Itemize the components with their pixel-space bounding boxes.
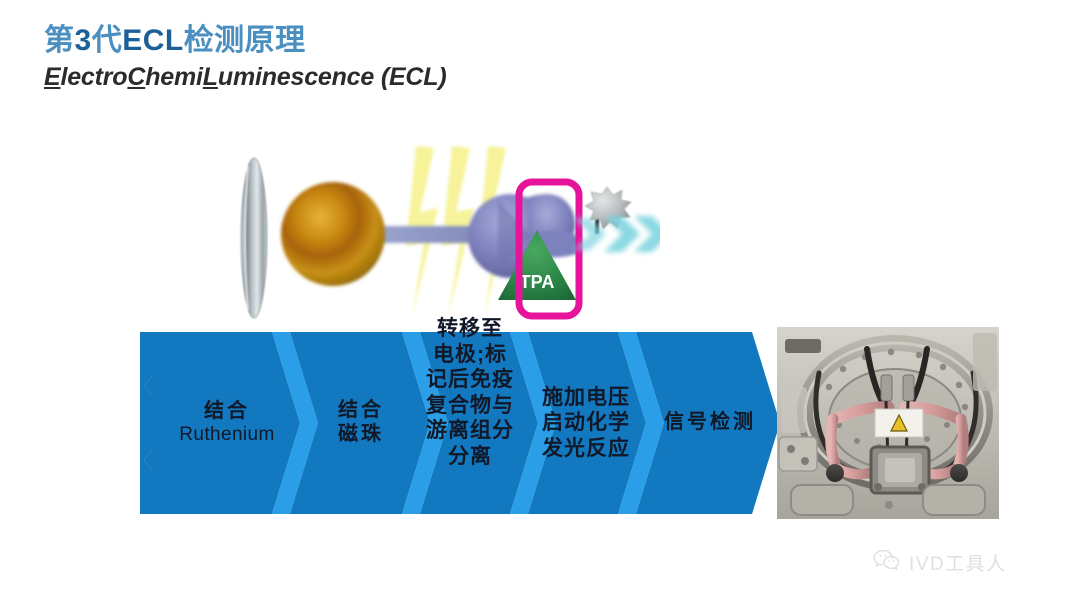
page-title-tail: 检测原理	[184, 24, 306, 57]
watermark: IVD工具人	[872, 548, 1007, 577]
subtitle-u-l: L	[203, 63, 218, 91]
page-subtitle: ElectroChemiLuminescence (ECL)	[44, 63, 744, 92]
subtitle-t-uminescence: uminescence (ECL)	[218, 63, 447, 91]
ecl-illustration: TPA	[230, 138, 660, 333]
page-title: 第3代ECL检测原理	[44, 24, 744, 58]
wechat-icon	[872, 548, 902, 577]
page-title-accent-number: 3	[75, 24, 92, 57]
watermark-text: IVD工具人	[909, 549, 1007, 576]
page-title-accent-ecl: ECL	[122, 24, 184, 57]
chevron-step-1[interactable]	[140, 332, 300, 514]
tpa-label: TPA	[520, 272, 555, 292]
page-title-mid: 代	[92, 24, 123, 57]
process-flow-shapes	[140, 330, 780, 516]
subtitle-t-lectro: lectro	[60, 63, 127, 91]
instrument-photo	[777, 327, 999, 519]
page-title-lead: 第	[44, 24, 75, 57]
magnetic-bead-icon	[281, 182, 385, 286]
subtitle-t-hemi: hemi	[145, 63, 203, 91]
title-block: 第3代ECL检测原理 ElectroChemiLuminescence (ECL…	[44, 24, 744, 92]
subtitle-u-e: E	[44, 63, 60, 91]
subtitle-u-c: C	[127, 63, 145, 91]
emitted-light-wave-icon	[574, 216, 660, 252]
electrode-disk-icon	[241, 158, 267, 318]
process-flow: 结合 Ruthenium 结合 磁珠 转移至 电极;标 记后免疫 复合物与 游离…	[140, 330, 780, 516]
